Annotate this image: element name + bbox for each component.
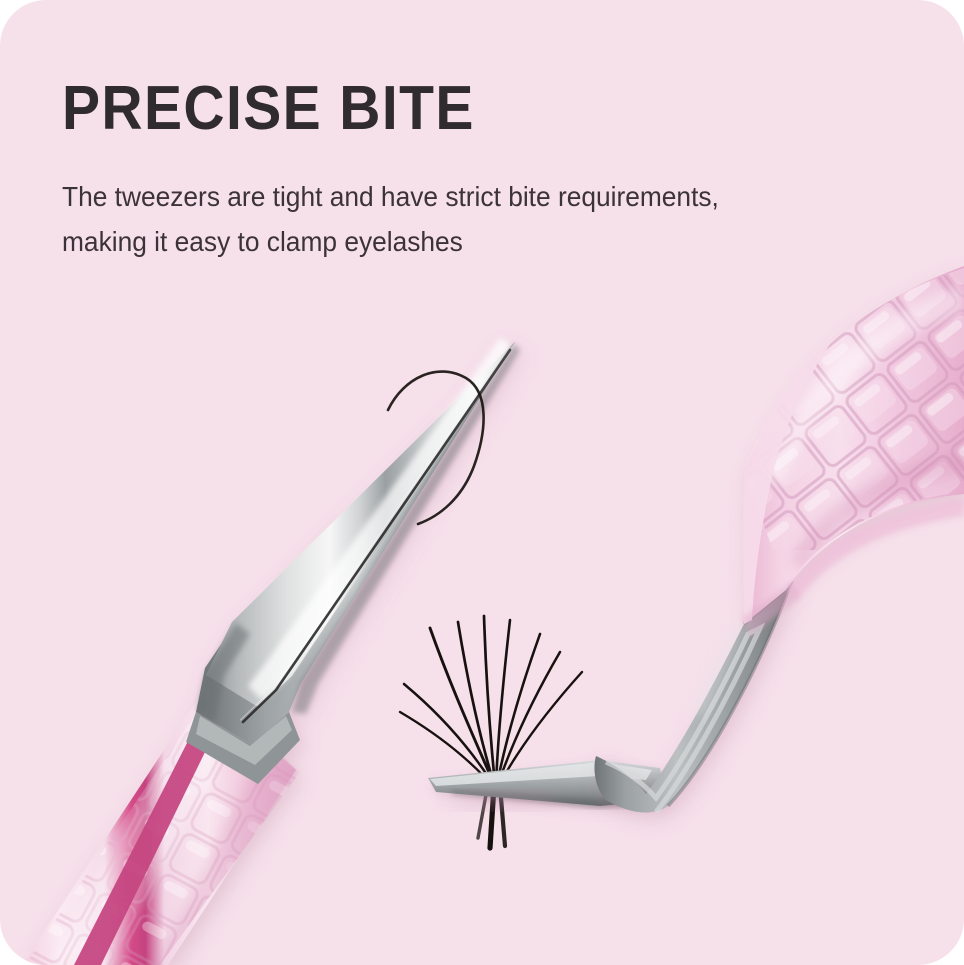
- right-tweezer: [428, 250, 964, 813]
- page-title: PRECISE BITE: [62, 78, 789, 140]
- subtitle-line-2: making it easy to clamp eyelashes: [62, 219, 805, 264]
- text-block: PRECISE BITE The tweezers are tight and …: [62, 78, 852, 265]
- subtitle-line-1: The tweezers are tight and have strict b…: [62, 174, 805, 219]
- subtitle: The tweezers are tight and have strict b…: [62, 174, 805, 265]
- left-tweezer: [0, 338, 520, 965]
- left-tweezer-steel: [186, 338, 520, 784]
- product-feature-card: PRECISE BITE The tweezers are tight and …: [0, 0, 964, 965]
- right-tweezer-handle: [700, 250, 964, 624]
- lash-fan: [400, 616, 582, 848]
